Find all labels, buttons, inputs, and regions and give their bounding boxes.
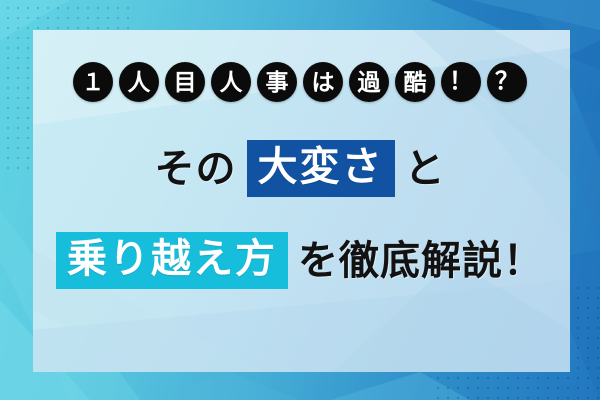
- line3-suffix-text: を徹底解説！: [288, 233, 544, 289]
- headline-line-1: １ 人 目 人 事 は 過 酷 ！ ？: [0, 62, 600, 102]
- headline-content: １ 人 目 人 事 は 過 酷 ！ ？ その 大変さ と 乗り越え方 を徹底解説…: [0, 0, 600, 400]
- line2-prefix-text: その: [155, 141, 247, 197]
- circled-character: 人: [119, 62, 159, 102]
- line2-highlight-text: 大変さ: [247, 140, 395, 197]
- headline-line-3: 乗り越え方 を徹底解説！: [0, 232, 600, 289]
- circled-character: 目: [165, 62, 205, 102]
- line3-highlight-text: 乗り越え方: [56, 232, 288, 289]
- circled-character: は: [303, 62, 343, 102]
- circled-character: 酷: [395, 62, 435, 102]
- line2-suffix-text: と: [395, 141, 446, 197]
- circled-character: 事: [257, 62, 297, 102]
- circled-character: １: [73, 62, 113, 102]
- banner-image: １ 人 目 人 事 は 過 酷 ！ ？ その 大変さ と 乗り越え方 を徹底解説…: [0, 0, 600, 400]
- circled-character: ！: [441, 62, 481, 102]
- circled-character: 過: [349, 62, 389, 102]
- circled-character: 人: [211, 62, 251, 102]
- headline-line-2: その 大変さ と: [0, 140, 600, 197]
- circled-character: ？: [487, 62, 527, 102]
